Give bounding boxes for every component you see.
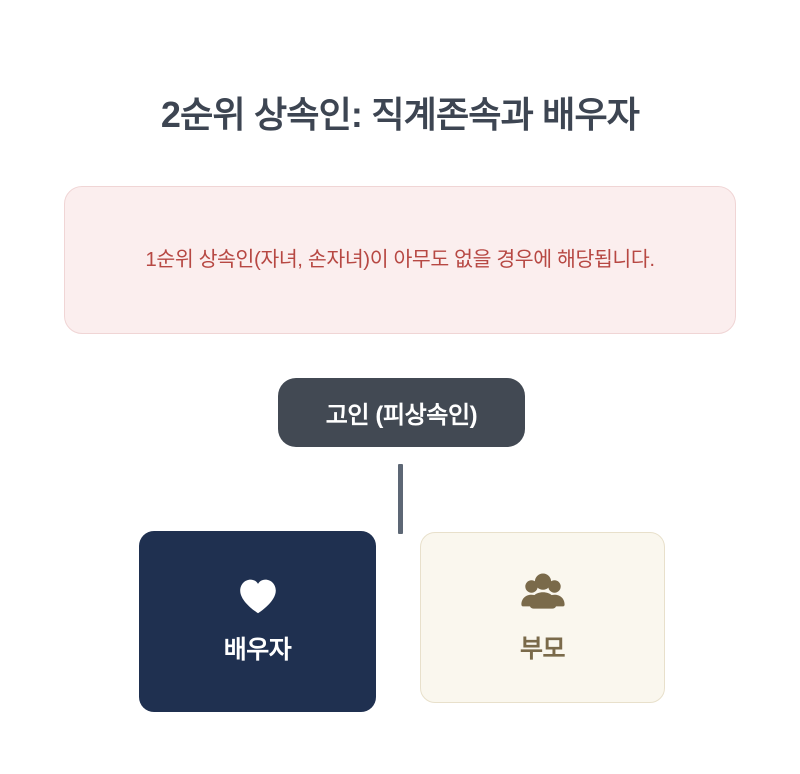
deceased-node-label: 고인 (피상속인) bbox=[326, 395, 478, 430]
note-callout-text: 1순위 상속인(자녀, 손자녀)이 아무도 없을 경우에 해당됩니다. bbox=[145, 242, 654, 277]
heir-card-parents[interactable]: 부모 bbox=[420, 532, 665, 703]
heart-icon bbox=[238, 578, 278, 614]
heir-card-spouse-label: 배우자 bbox=[224, 630, 292, 666]
inheritance-diagram-page: 2순위 상속인: 직계존속과 배우자 1순위 상속인(자녀, 손자녀)이 아무도… bbox=[0, 0, 800, 774]
heir-card-parents-label: 부모 bbox=[520, 629, 565, 665]
note-callout-box: 1순위 상속인(자녀, 손자녀)이 아무도 없을 경우에 해당됩니다. bbox=[64, 186, 736, 334]
heir-card-spouse[interactable]: 배우자 bbox=[139, 531, 376, 712]
connector-line-vertical bbox=[398, 464, 403, 534]
deceased-node: 고인 (피상속인) bbox=[278, 378, 525, 447]
people-group-icon bbox=[519, 571, 567, 615]
page-title: 2순위 상속인: 직계존속과 배우자 bbox=[0, 92, 800, 137]
